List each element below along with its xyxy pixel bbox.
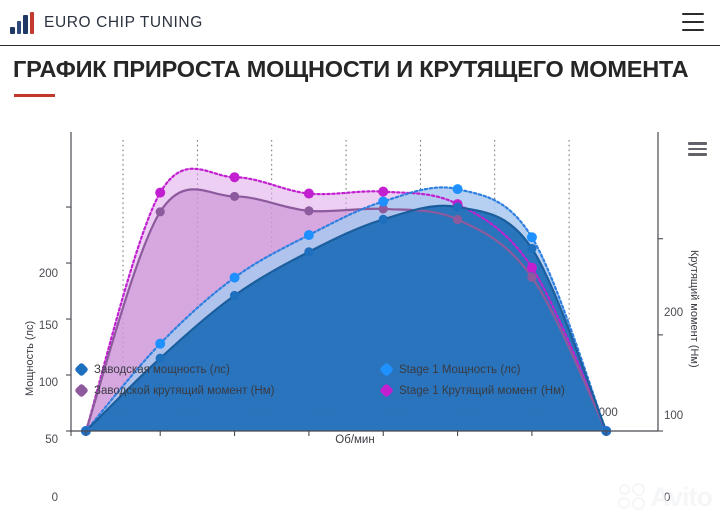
legend-label: Stage 1 Крутящий момент (Нм) (399, 385, 565, 397)
legend-item-stage1-power[interactable]: Stage 1 Мощность (лс) (381, 359, 565, 380)
y-axis-label-right: Крутящий момент (Нм) (688, 250, 700, 368)
legend-label: Stage 1 Мощность (лс) (399, 364, 520, 376)
bar-chart-logo-icon (10, 12, 36, 34)
legend-item-stock-power[interactable]: Заводская мощность (лс) (76, 359, 274, 380)
avito-dots-icon (618, 483, 648, 511)
x-axis-label: Об/мин (0, 434, 710, 446)
legend-item-stage1-torque[interactable]: Stage 1 Крутящий момент (Нм) (381, 380, 565, 401)
legend-label: Заводская мощность (лс) (94, 364, 230, 376)
legend-label: Заводской крутящий момент (Нм) (94, 385, 274, 397)
stage1-power-marker (379, 362, 394, 377)
legend-item-stock-torque[interactable]: Заводской крутящий момент (Нм) (76, 380, 274, 401)
y-tick-left-200: 200 (22, 268, 58, 280)
title-underline-rule (14, 94, 55, 97)
stock-torque-marker (74, 383, 89, 398)
chart-menu-hamburger-icon[interactable] (688, 142, 707, 156)
dyno-chart: Мощность (лс) Крутящий момент (Нм) Об/ми… (0, 104, 720, 517)
brand-logo[interactable]: EURO CHIP TUNING (10, 12, 203, 34)
avito-watermark: Avito (618, 483, 713, 511)
stage1-torque-marker (379, 383, 394, 398)
screenshot-root: EURO CHIP TUNING ГРАФИК ПРИРОСТА МОЩНОСТ… (0, 0, 720, 517)
y-tick-right-200: 200 (664, 307, 683, 319)
y-tick-left-0: 0 (22, 492, 58, 504)
site-header: EURO CHIP TUNING (0, 0, 720, 46)
page-title: ГРАФИК ПРИРОСТА МОЩНОСТИ И КРУТЯЩЕГО МОМ… (13, 56, 688, 83)
chart-legend: Заводская мощность (лс) Заводской крутящ… (0, 355, 720, 413)
y-tick-left-150: 150 (22, 320, 58, 332)
avito-wordmark: Avito (651, 484, 713, 511)
y-tick-left-50: 50 (22, 434, 58, 446)
hamburger-menu-icon[interactable] (682, 13, 704, 31)
stock-power-marker (74, 362, 89, 377)
brand-name: EURO CHIP TUNING (44, 14, 203, 32)
